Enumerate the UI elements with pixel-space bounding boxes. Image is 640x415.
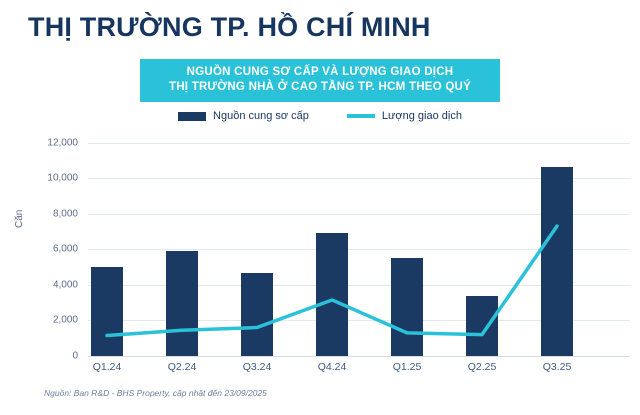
y-tick-label: 10,000 [30,173,78,184]
y-axis-title: Căn [14,210,25,228]
bar-Q1.25 [391,258,423,356]
y-tick-label: 0 [30,351,78,362]
bar-Q1.24 [91,267,123,356]
x-tick-label-Q1.24: Q1.24 [72,361,142,373]
bar-Q3.25 [541,167,573,356]
y-tick-label: 4,000 [30,279,78,290]
x-tick-label-Q1.25: Q1.25 [372,361,442,373]
gridline [88,143,630,144]
y-tick-label: 8,000 [30,208,78,219]
x-tick-label-Q2.25: Q2.25 [447,361,517,373]
x-tick-label-Q2.24: Q2.24 [147,361,217,373]
plot-area: Căn 02,0004,0006,0008,00010,00012,000 Q1… [0,0,640,415]
y-tick-label: 2,000 [30,315,78,326]
x-tick-label-Q3.24: Q3.24 [222,361,292,373]
source-footnote: Nguồn: Ban R&D - BHS Property, cập nhật … [44,388,267,398]
y-tick-label: 6,000 [30,244,78,255]
bar-Q4.24 [316,233,348,356]
chart-page: THỊ TRƯỜNG TP. HỒ CHÍ MINH NGUỒN CUNG SƠ… [0,0,640,415]
bar-Q2.25 [466,296,498,356]
axis-baseline [88,356,630,357]
bar-Q2.24 [166,251,198,356]
x-tick-label-Q3.25: Q3.25 [522,361,592,373]
bar-Q3.24 [241,273,273,356]
x-tick-label-Q4.24: Q4.24 [297,361,367,373]
y-tick-label: 12,000 [30,137,78,148]
